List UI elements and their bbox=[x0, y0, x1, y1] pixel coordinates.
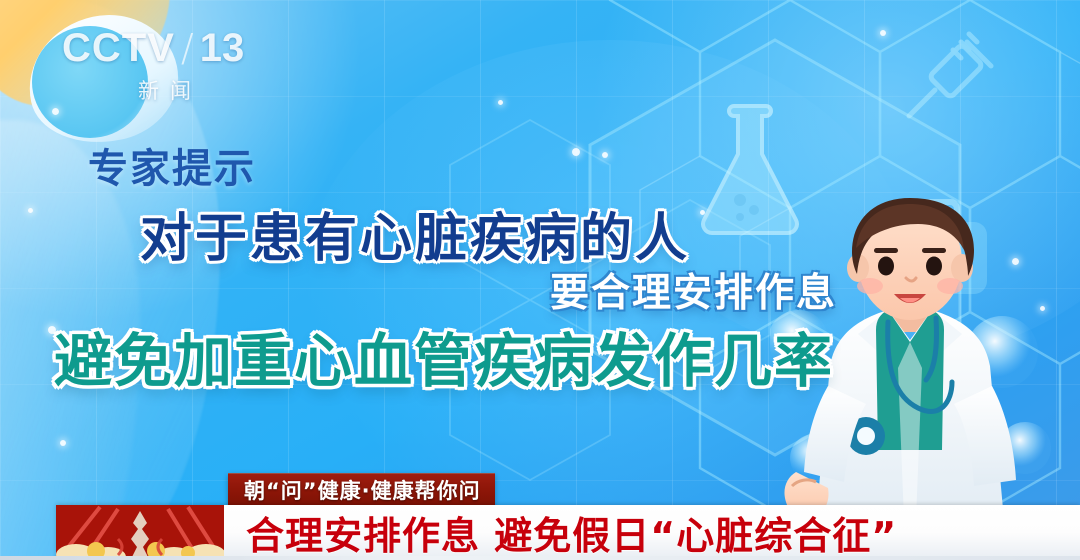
channel-logo-row: CCTV / 13 bbox=[62, 28, 252, 68]
channel-logo-text: CCTV bbox=[62, 28, 175, 68]
particle-dot bbox=[700, 210, 705, 215]
channel-logo-subtitle: 新闻 bbox=[62, 75, 252, 105]
channel-logo-number: 13 bbox=[200, 28, 245, 68]
overlay-line-3: 避免加重心血管疾病发作几率 bbox=[54, 314, 834, 398]
particle-dot bbox=[60, 440, 66, 446]
broadcast-screen: CCTV / 13 新闻 bbox=[0, 0, 1080, 560]
channel-logo: CCTV / 13 新闻 bbox=[62, 28, 252, 120]
channel-logo-separator: / bbox=[181, 29, 194, 67]
particle-dot bbox=[572, 148, 580, 156]
expert-tip-kicker: 专家提示 bbox=[88, 136, 256, 194]
program-tag-bar: 朝“问”健康·健康帮你问 bbox=[228, 473, 495, 506]
program-tag-text: 朝“问”健康·健康帮你问 bbox=[244, 475, 481, 505]
band-bottom-strip bbox=[0, 556, 1080, 560]
particle-dot bbox=[498, 100, 503, 105]
overlay-line-1: 对于患有心脏疾病的人 bbox=[140, 196, 690, 271]
headline-text: 合理安排作息 避免假日“心脏综合征” bbox=[224, 505, 1080, 560]
syringe-icon bbox=[895, 20, 1015, 130]
particle-dot bbox=[880, 30, 886, 36]
particle-dot bbox=[602, 152, 608, 158]
chinese-festive-ornament bbox=[56, 505, 224, 560]
overlay-line-2: 要合理安排作息 bbox=[550, 262, 837, 318]
headline-band: 合理安排作息 避免假日“心脏综合征” bbox=[56, 505, 1080, 560]
ornament-graphic bbox=[56, 505, 224, 560]
particle-dot bbox=[52, 108, 59, 115]
particle-dot bbox=[28, 208, 33, 213]
